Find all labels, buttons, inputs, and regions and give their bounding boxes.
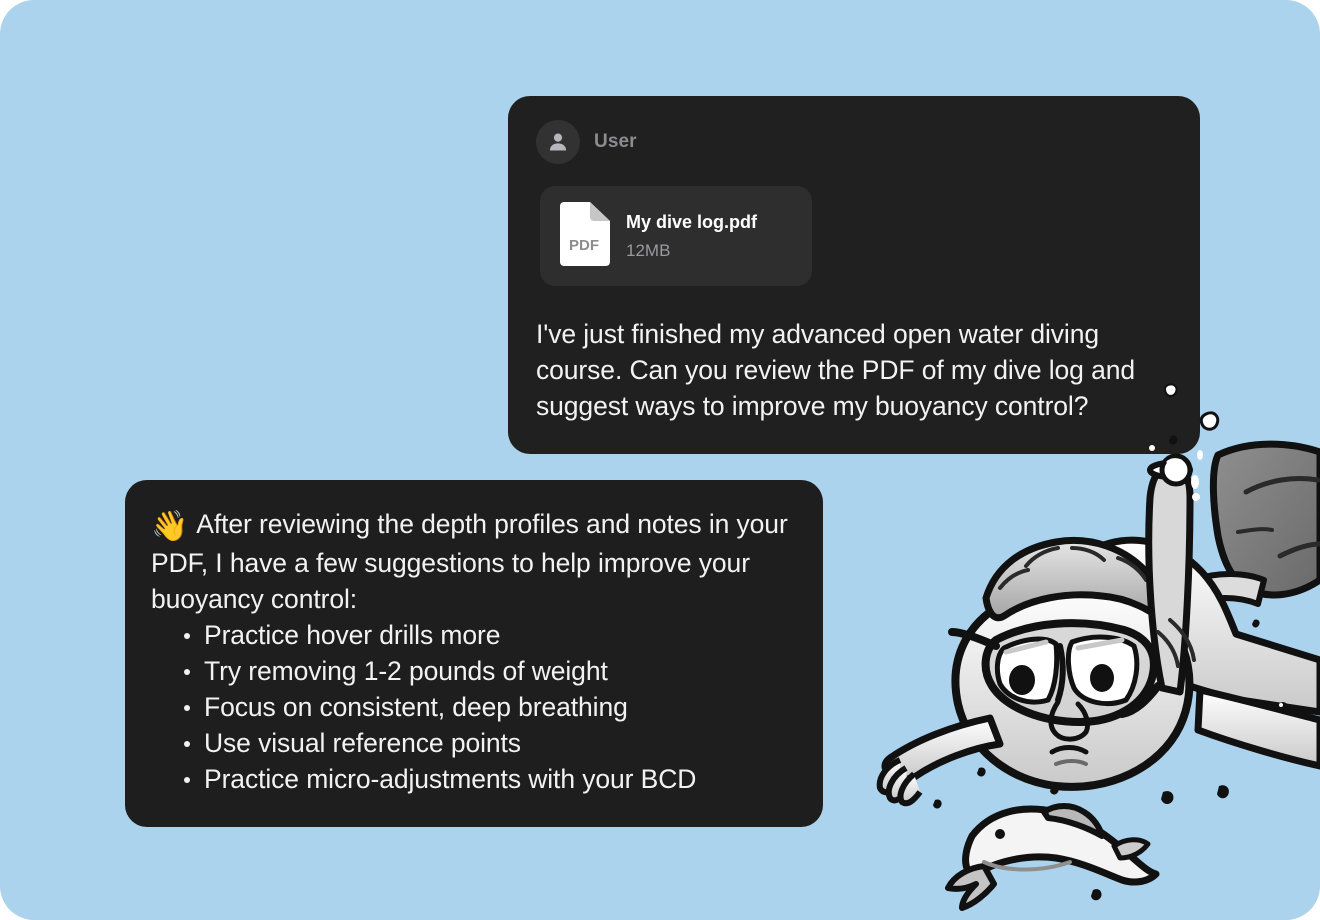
list-item: Try removing 1-2 pounds of weight — [177, 653, 793, 689]
attachment-file-size: 12MB — [626, 241, 757, 261]
fish-illustration — [948, 806, 1156, 908]
page-canvas: User PDF My dive log.pdf 12MB I've just … — [0, 0, 1320, 920]
attachment-meta: My dive log.pdf 12MB — [626, 211, 757, 261]
user-avatar-icon — [536, 120, 580, 164]
user-message-bubble: User PDF My dive log.pdf 12MB I've just … — [508, 96, 1200, 454]
assistant-intro-text: After reviewing the depth profiles and n… — [151, 509, 788, 614]
waving-hand-emoji: 👋 — [151, 510, 188, 543]
assistant-message-intro: 👋After reviewing the depth profiles and … — [151, 506, 793, 617]
diver-figure — [880, 444, 1320, 803]
list-item: Focus on consistent, deep breathing — [177, 689, 793, 725]
svg-text:PDF: PDF — [569, 237, 599, 254]
list-item: Practice micro-adjustments with your BCD — [177, 761, 793, 797]
user-message-author: User — [594, 131, 637, 153]
assistant-message-bubble: 👋After reviewing the depth profiles and … — [125, 480, 823, 827]
pdf-file-icon: PDF — [556, 202, 610, 270]
list-item: Use visual reference points — [177, 725, 793, 761]
user-message-header: User — [508, 120, 1200, 164]
air-bubbles — [933, 384, 1288, 900]
attachment-file-name: My dive log.pdf — [626, 211, 757, 234]
suggestion-list: Practice hover drills more Try removing … — [151, 617, 793, 797]
list-item: Practice hover drills more — [177, 617, 793, 653]
user-message-text: I've just finished my advanced open wate… — [536, 316, 1166, 424]
attachment-card[interactable]: PDF My dive log.pdf 12MB — [540, 186, 812, 286]
